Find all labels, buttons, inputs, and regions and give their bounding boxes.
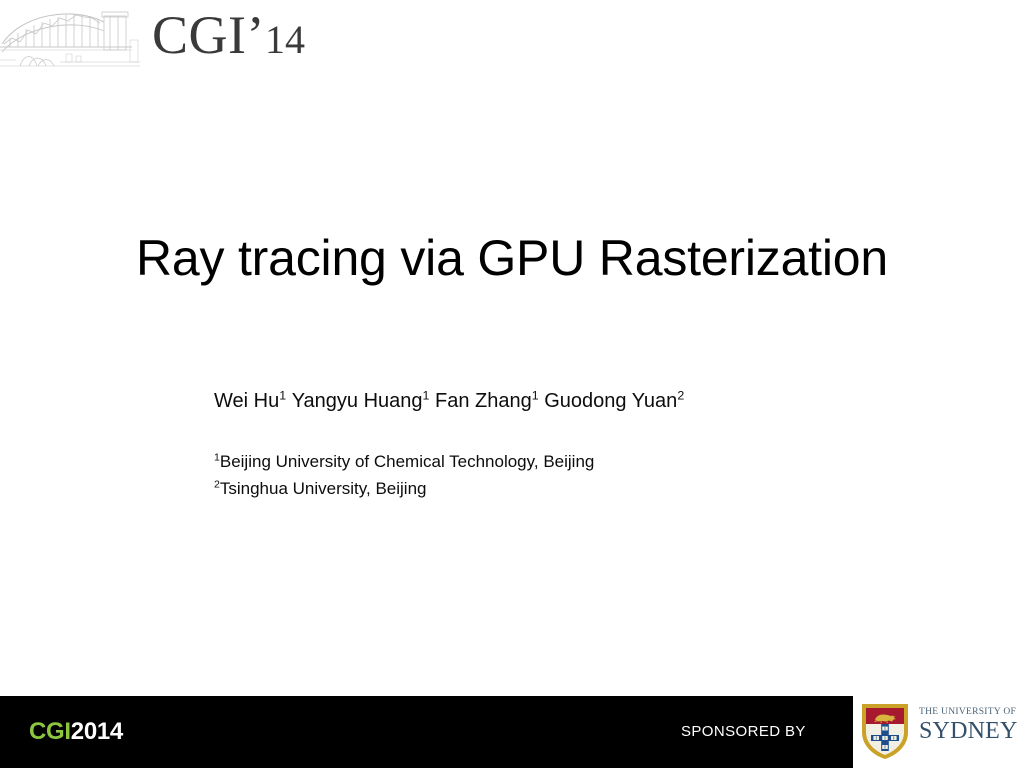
slide-canvas: CGI’14 Ray tracing via GPU Rasterization… <box>0 0 1024 768</box>
author-marker: 1 <box>532 388 539 402</box>
author-marker: 2 <box>677 388 684 402</box>
author-marker: 1 <box>279 388 286 402</box>
footer-brand-cgi: CGI <box>29 718 71 745</box>
cgi-wordmark-year: 14 <box>265 17 305 62</box>
cgi-14-wordmark: CGI’14 <box>152 4 305 71</box>
header-brand: CGI’14 <box>0 0 420 78</box>
footer-brand-year: 2014 <box>71 718 123 745</box>
author-name: Guodong Yuan <box>544 390 677 412</box>
sponsored-by-label: SPONSORED BY <box>681 723 806 741</box>
author-name: Yangyu Huang <box>292 390 423 412</box>
sponsor-wordmark-line1: THE UNIVERSITY OF <box>919 707 1018 718</box>
author-line: Wei Hu1 Yangyu Huang1 Fan Zhang1 Guodong… <box>214 388 854 414</box>
sponsor-wordmark-line2: SYDNEY <box>919 718 1018 745</box>
university-of-sydney-crest-icon <box>859 701 911 761</box>
author-name: Fan Zhang <box>435 390 532 412</box>
affiliation-line: 2Tsinghua University, Beijing <box>214 475 854 502</box>
credits-block: Wei Hu1 Yangyu Huang1 Fan Zhang1 Guodong… <box>214 388 854 502</box>
page-title: Ray tracing via GPU Rasterization <box>62 228 962 288</box>
sydney-harbour-bridge-icon <box>0 0 144 70</box>
sponsor-wordmark: THE UNIVERSITY OF SYDNEY <box>919 707 1018 745</box>
footer-brand: CGI2014 <box>29 718 123 746</box>
author-name: Wei Hu <box>214 390 279 412</box>
affiliation-line: 1Beijing University of Chemical Technolo… <box>214 448 854 475</box>
author-marker: 1 <box>423 388 430 402</box>
cgi-wordmark-main: CGI’ <box>152 5 265 65</box>
affiliation-text: Tsinghua University, Beijing <box>220 479 427 498</box>
affiliation-text: Beijing University of Chemical Technolog… <box>220 452 595 471</box>
sponsor-logo: THE UNIVERSITY OF SYDNEY <box>859 701 1019 763</box>
